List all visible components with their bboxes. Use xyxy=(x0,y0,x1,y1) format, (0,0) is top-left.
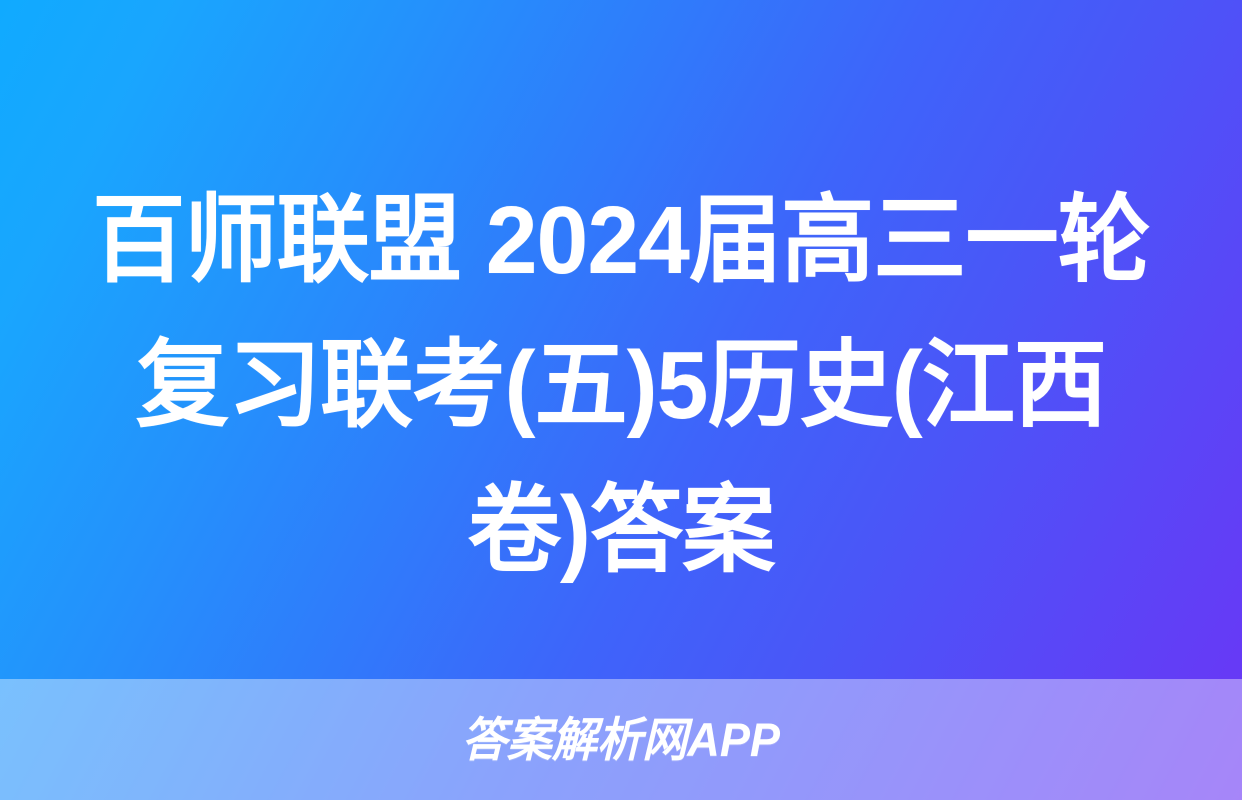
app-watermark-label: 答案解析网APP xyxy=(462,716,780,763)
poster-title-block: 百师联盟 2024届高三一轮复习联考(五)5历史(江西卷)答案 xyxy=(0,168,1242,603)
page-title: 百师联盟 2024届高三一轮复习联考(五)5历史(江西卷)答案 xyxy=(87,168,1156,603)
answer-poster-card: 百师联盟 2024届高三一轮复习联考(五)5历史(江西卷)答案 答案解析网APP xyxy=(0,0,1242,800)
footer-watermark-band: 答案解析网APP xyxy=(0,679,1242,800)
